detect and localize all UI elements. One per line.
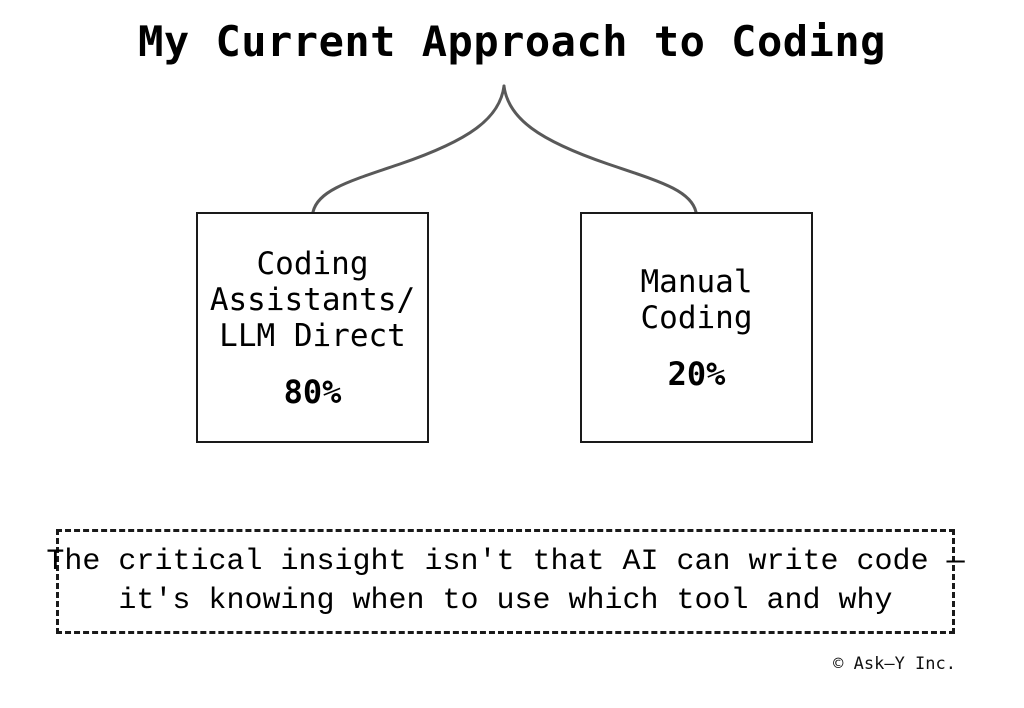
category-label-line-2: Coding bbox=[641, 300, 753, 336]
category-label-line-1: Manual bbox=[641, 264, 753, 300]
footer-credit: © Ask–Y Inc. bbox=[833, 653, 956, 675]
connector-right-branch bbox=[504, 86, 696, 212]
connector-left-branch bbox=[313, 86, 504, 212]
category-label-line-1: Coding bbox=[257, 246, 369, 282]
insight-line-2: it's knowing when to use which tool and … bbox=[118, 582, 892, 621]
insight-callout: The critical insight isn't that AI can w… bbox=[56, 529, 955, 634]
category-box-coding-assistants[interactable]: Coding Assistants/ LLM Direct 80% bbox=[196, 212, 429, 443]
slide-canvas: My Current Approach to Coding Coding Ass… bbox=[0, 0, 1024, 708]
category-label-line-2: Assistants/ bbox=[210, 282, 415, 318]
category-label-line-3: LLM Direct bbox=[219, 318, 406, 354]
category-value-percent: 20% bbox=[668, 356, 726, 392]
category-box-manual-coding[interactable]: Manual Coding 20% bbox=[580, 212, 813, 443]
category-value-percent: 80% bbox=[284, 374, 342, 410]
insight-line-1: The critical insight isn't that AI can w… bbox=[46, 543, 964, 582]
page-title: My Current Approach to Coding bbox=[0, 16, 1024, 68]
